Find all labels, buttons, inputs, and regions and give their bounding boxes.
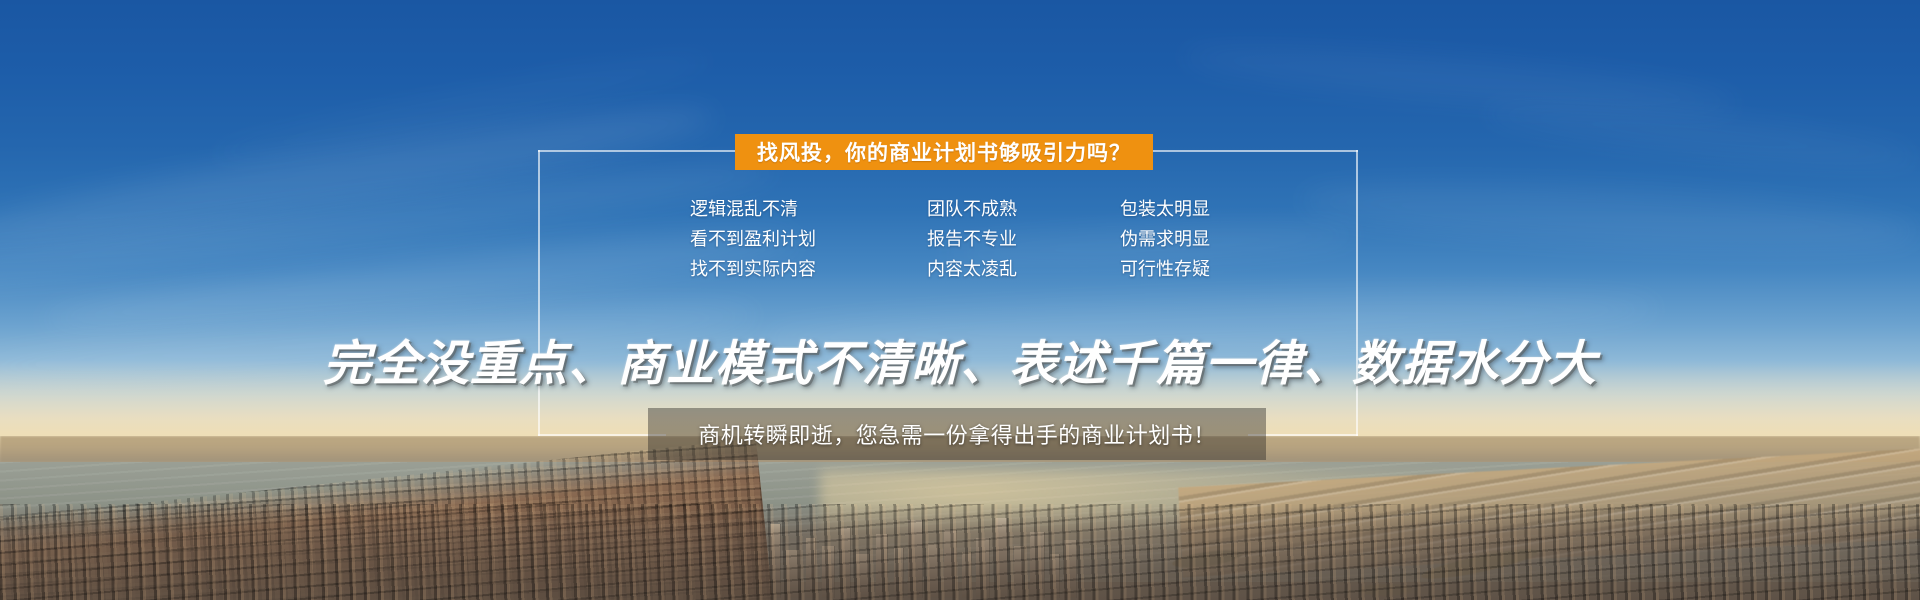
call-to-action-text: 商机转瞬即逝，您急需一份拿得出手的商业计划书！ [698, 418, 1216, 450]
pain-point-column-2: 团队不成熟 报告不专业 内容太凌乱 [927, 200, 1017, 278]
pain-point-item: 找不到实际内容 [690, 260, 816, 278]
cloud-streak-icon [1299, 174, 1920, 258]
pain-point-columns: 逻辑混乱不清 看不到盈利计划 找不到实际内容 团队不成熟 报告不专业 内容太凌乱… [690, 200, 1210, 278]
hero-banner: 找风投，你的商业计划书够吸引力吗？ 逻辑混乱不清 看不到盈利计划 找不到实际内容… [0, 0, 1920, 600]
headline-badge: 找风投，你的商业计划书够吸引力吗？ [735, 134, 1153, 170]
pain-point-item: 内容太凌乱 [927, 260, 1017, 278]
pain-point-item: 团队不成熟 [927, 200, 1017, 218]
call-to-action-bar: 商机转瞬即逝，您急需一份拿得出手的商业计划书！ [648, 408, 1266, 460]
pain-point-item: 可行性存疑 [1120, 260, 1210, 278]
pain-point-item: 报告不专业 [927, 230, 1017, 248]
cityscape-photo [0, 436, 1920, 600]
pain-point-item: 伪需求明显 [1120, 230, 1210, 248]
headline-badge-text: 找风投，你的商业计划书够吸引力吗？ [757, 137, 1131, 167]
pain-point-item: 包装太明显 [1120, 200, 1210, 218]
pain-point-item: 逻辑混乱不清 [690, 200, 816, 218]
cloud-streak-icon [1179, 36, 1740, 125]
main-headline: 完全没重点、商业模式不清晰、表述千篇一律、数据水分大 [0, 324, 1920, 394]
pain-point-item: 看不到盈利计划 [690, 230, 816, 248]
pain-point-column-3: 包装太明显 伪需求明显 可行性存疑 [1120, 200, 1210, 278]
pain-point-column-1: 逻辑混乱不清 看不到盈利计划 找不到实际内容 [690, 200, 816, 278]
foreground-city-blocks [0, 504, 1920, 600]
